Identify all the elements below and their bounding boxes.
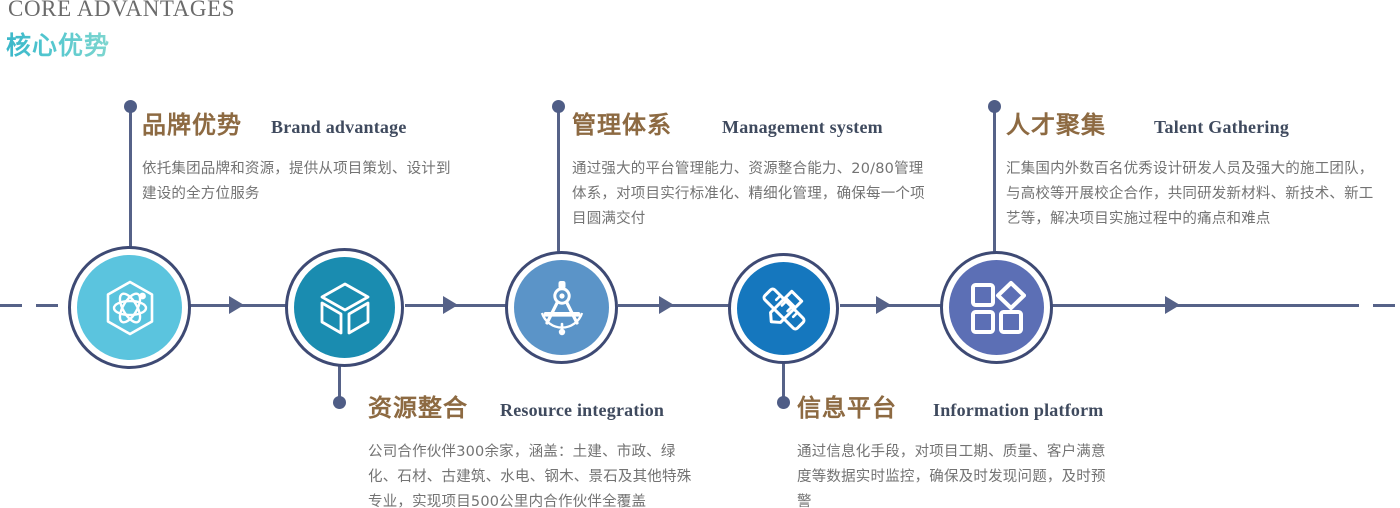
caption-head-3: 管理体系 Management system: [572, 105, 942, 140]
node-disc-5: [949, 260, 1044, 355]
caption-body-5: 汇集国内外数百名优秀设计研发人员及强大的施工团队，与高校等开展校企合作，共同研发…: [1006, 157, 1386, 232]
stem-node-1: [129, 108, 132, 266]
caption-head-1: 品牌优势 Brand advantage: [142, 105, 462, 140]
caption-title-cn-3: 管理体系: [572, 105, 672, 140]
stem-dot-node-1: [124, 100, 137, 113]
caption-title-cn-5: 人才聚集: [1006, 105, 1106, 140]
rail-segment-4-5: [840, 304, 944, 307]
page-title-english: CORE ADVANTAGES: [8, 0, 235, 22]
rail-arrow-2: [443, 296, 458, 314]
caption-head-5: 人才聚集 Talent Gathering: [1006, 105, 1398, 140]
node-disc-4: [737, 262, 830, 355]
caption-title-en-4: Information platform: [933, 400, 1103, 421]
node-disc-3: [514, 260, 609, 355]
stem-node-3: [557, 108, 560, 260]
node-circle-3[interactable]: [505, 251, 618, 364]
rail-arrow-4: [876, 296, 891, 314]
stem-node-5: [993, 108, 996, 260]
pencil-ruler-icon: [755, 280, 813, 338]
caption-title-en-5: Talent Gathering: [1154, 117, 1289, 138]
caption-title-cn-2: 资源整合: [368, 388, 468, 423]
caption-node-1: 品牌优势 Brand advantage 依托集团品牌和资源，提供从项目策划、设…: [142, 105, 462, 207]
rail-dash-right: [1337, 304, 1400, 307]
stem-dot-node-5: [988, 100, 1001, 113]
caption-title-en-2: Resource integration: [500, 400, 664, 421]
rail-arrow-5: [1165, 296, 1180, 314]
node-disc-2: [294, 257, 395, 358]
node-circle-5[interactable]: [940, 251, 1053, 364]
stem-dot-node-2: [333, 396, 346, 409]
caption-node-2: 资源整合 Resource integration 公司合作伙伴300余家，涵盖…: [368, 388, 708, 508]
compass-divider-icon: [533, 279, 591, 337]
rail-arrow-3: [659, 296, 674, 314]
node-disc-1: [77, 255, 182, 360]
caption-node-5: 人才聚集 Talent Gathering 汇集国内外数百名优秀设计研发人员及强…: [1006, 105, 1398, 232]
squares-diamond-icon: [968, 279, 1026, 337]
node-circle-1[interactable]: [68, 246, 191, 369]
caption-body-1: 依托集团品牌和资源，提供从项目策划、设计到建设的全方位服务: [142, 157, 454, 207]
caption-head-2: 资源整合 Resource integration: [368, 388, 708, 423]
caption-body-3: 通过强大的平台管理能力、资源整合能力、20/80管理体系，对项目实行标准化、精细…: [572, 157, 936, 232]
node-circle-2[interactable]: [285, 248, 404, 367]
rail-dash-left: [0, 304, 72, 307]
rail-segment-right: [1052, 304, 1337, 307]
node-circle-4[interactable]: [728, 253, 839, 364]
rail-arrow-1: [229, 296, 244, 314]
caption-node-3: 管理体系 Management system 通过强大的平台管理能力、资源整合能…: [572, 105, 942, 232]
caption-title-cn-1: 品牌优势: [142, 105, 242, 140]
caption-title-en-1: Brand advantage: [271, 117, 407, 138]
caption-body-4: 通过信息化手段，对项目工期、质量、客户满意度等数据实时监控，确保及时发现问题，及…: [797, 440, 1107, 508]
rail-segment-3-4: [618, 304, 730, 307]
hexagon-atom-icon: [99, 277, 161, 339]
caption-head-4: 信息平台 Information platform: [797, 388, 1137, 423]
cube-box-icon: [315, 278, 375, 338]
page-title-chinese: 核心优势: [6, 26, 110, 62]
core-advantages-infographic: CORE ADVANTAGES 核心优势: [0, 0, 1400, 508]
caption-title-en-3: Management system: [722, 117, 883, 138]
caption-body-2: 公司合作伙伴300余家，涵盖：土建、市政、绿化、石材、古建筑、水电、钢木、景石及…: [368, 440, 694, 508]
caption-node-4: 信息平台 Information platform 通过信息化手段，对项目工期、…: [797, 388, 1137, 508]
stem-dot-node-4: [777, 396, 790, 409]
caption-title-cn-4: 信息平台: [797, 388, 897, 423]
stem-dot-node-3: [552, 100, 565, 113]
